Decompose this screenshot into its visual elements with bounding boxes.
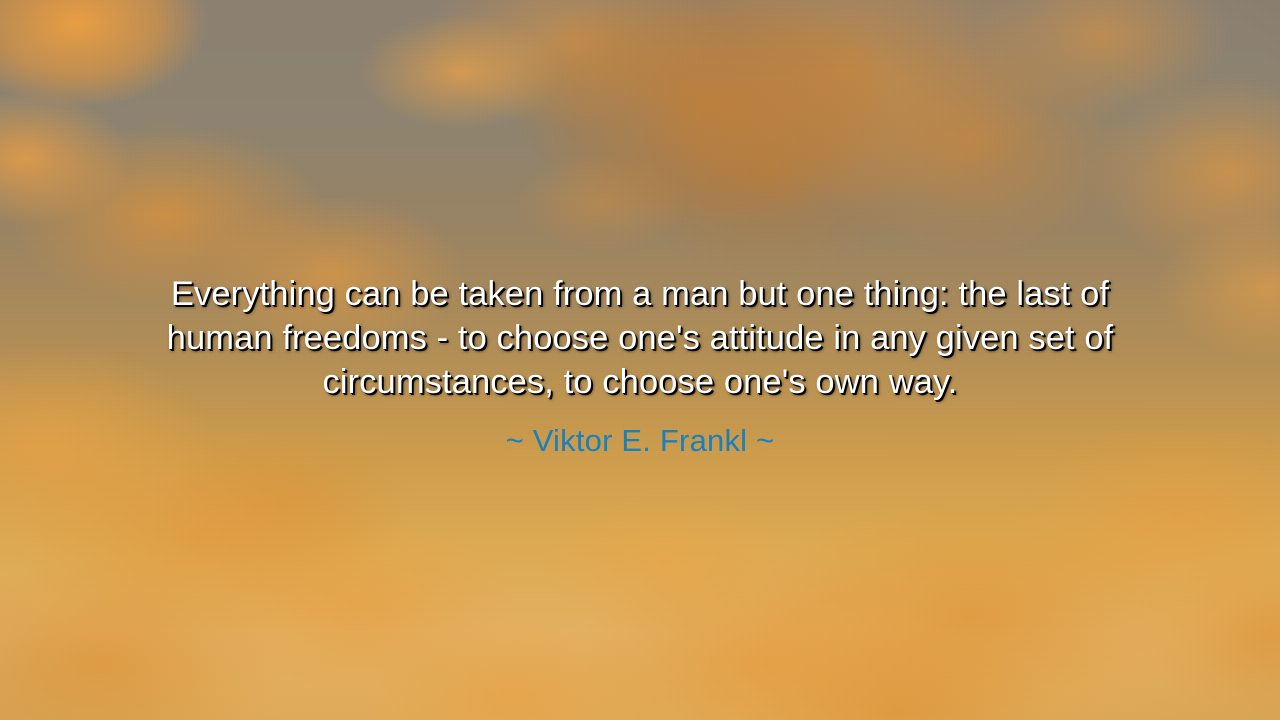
quote-text: Everything can be taken from a man but o… — [40, 272, 1240, 404]
quote-image-canvas: Everything can be taken from a man but o… — [0, 0, 1280, 720]
quote-attribution: ~ Viktor E. Frankl ~ — [40, 422, 1240, 460]
quote-block: Everything can be taken from a man but o… — [0, 272, 1280, 460]
